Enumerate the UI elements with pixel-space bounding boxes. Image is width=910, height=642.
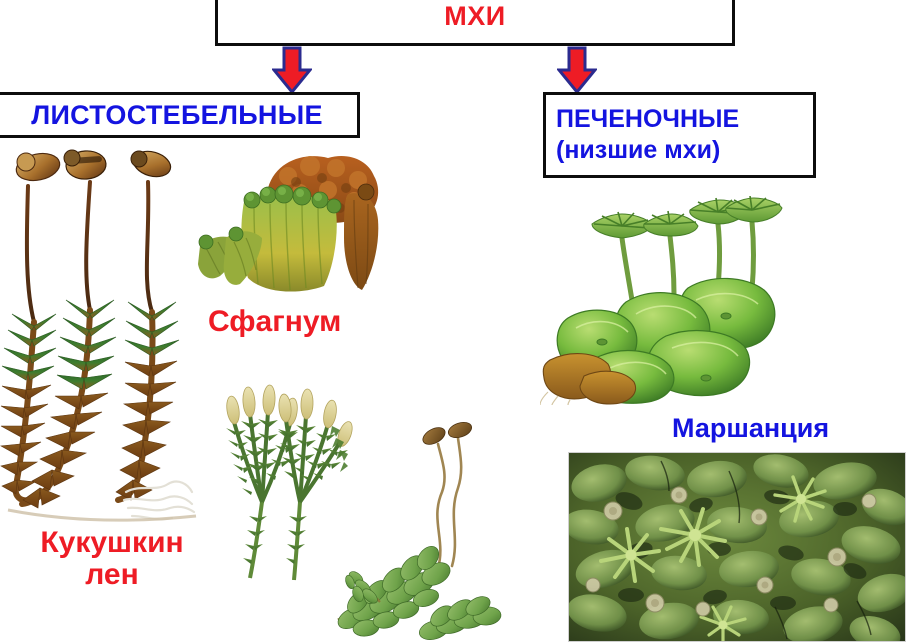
- box-mhi-label: МХИ: [444, 1, 505, 32]
- moss-classification-diagram: МХИ ЛИСТОСТЕБЕЛЬНЫЕ ПЕЧЕНОЧНЫЕ (низшие м…: [0, 0, 910, 642]
- polytrichum-illustration: [0, 140, 200, 530]
- marchantia-photograph: [568, 452, 906, 642]
- marchantia-illustration: [540, 196, 792, 406]
- box-mhi: МХИ: [215, 0, 735, 46]
- pleurocarp-moss-illustration: [330, 420, 530, 642]
- caption-kukushkin-len: Кукушкин лен: [12, 527, 212, 591]
- box-leafy-mosses: ЛИСТОСТЕБЕЛЬНЫЕ: [0, 92, 360, 138]
- sphagnum-illustration: [196, 150, 396, 302]
- caption-marshanciya: Маршанция: [672, 413, 829, 444]
- box-liverworts-label: ПЕЧЕНОЧНЫЕ (низшие мхи): [556, 104, 813, 167]
- box-leafy-mosses-label: ЛИСТОСТЕБЕЛЬНЫЕ: [31, 100, 323, 131]
- box-liverworts: ПЕЧЕНОЧНЫЕ (низшие мхи): [543, 92, 816, 178]
- caption-sphagnum: Сфагнум: [208, 305, 341, 339]
